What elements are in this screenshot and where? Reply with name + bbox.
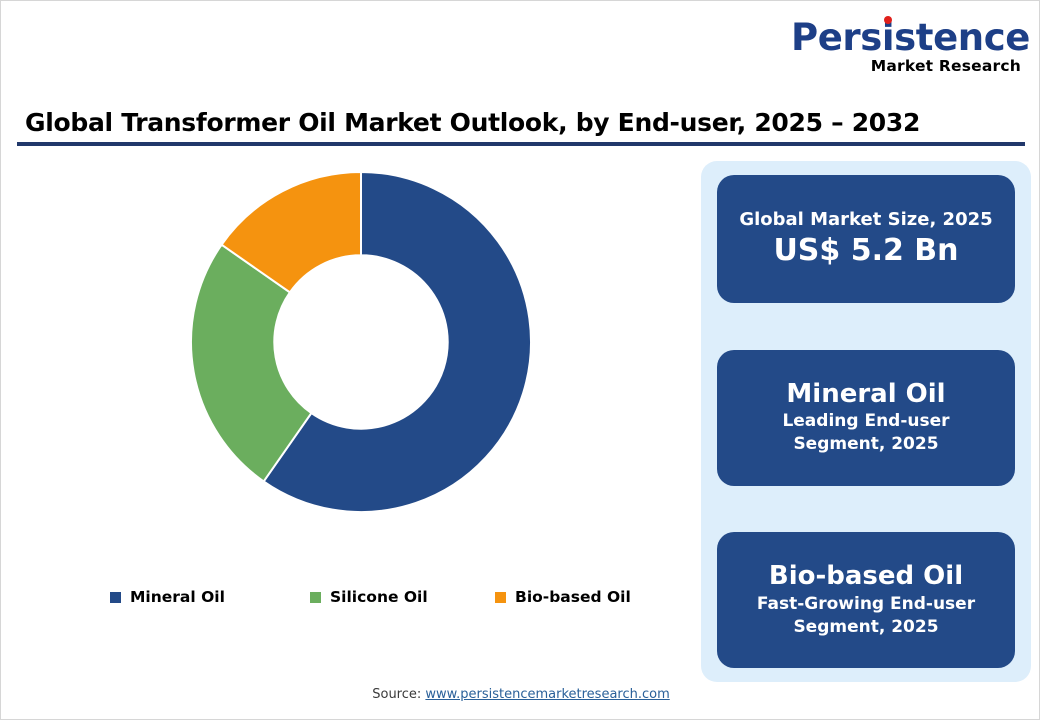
infographic-canvas: Persistence Market Research Global Trans… [0,0,1040,720]
source-link[interactable]: www.persistencemarketresearch.com [425,687,669,702]
stats-panel: Global Market Size, 2025 US$ 5.2 Bn Mine… [701,161,1031,682]
donut-chart [189,170,533,514]
stat-card-market-size[interactable]: Global Market Size, 2025 US$ 5.2 Bn [717,175,1015,303]
donut-chart-svg [189,170,533,514]
stat-card-fastest-segment-title: Bio-based Oil [769,561,963,593]
stat-card-leading-segment-sub1: Leading End-user [782,410,949,433]
stat-card-market-size-value: US$ 5.2 Bn [773,232,958,270]
legend-label: Bio-based Oil [515,588,631,606]
stat-card-leading-segment-title: Mineral Oil [786,379,945,411]
logo-red-dot-icon [884,16,892,24]
stat-card-leading-segment[interactable]: Mineral Oil Leading End-user Segment, 20… [717,350,1015,486]
stat-card-market-size-head: Global Market Size, 2025 [739,209,992,232]
legend-label: Mineral Oil [130,588,225,606]
source-footer: Source: www.persistencemarketresearch.co… [1,687,1040,702]
title-divider [17,142,1025,146]
legend-item-silicone-oil[interactable]: Silicone Oil [310,588,428,606]
stat-card-fastest-segment-sub2: Segment, 2025 [793,616,938,639]
donut-chart-area [25,156,685,556]
legend-swatch-icon [495,592,506,603]
stat-card-leading-segment-sub2: Segment, 2025 [793,433,938,456]
donut-slice-group [191,172,531,512]
logo-primary-label: Persistence [791,16,1030,59]
source-prefix: Source: [372,687,425,702]
company-logo: Persistence Market Research [791,19,1021,75]
chart-legend: Mineral OilSilicone OilBio-based Oil [25,584,685,610]
logo-primary-text: Persistence [791,19,1030,56]
stat-card-fastest-segment-sub1: Fast-Growing End-user [757,593,975,616]
legend-label: Silicone Oil [330,588,428,606]
legend-swatch-icon [310,592,321,603]
stat-card-fastest-segment[interactable]: Bio-based Oil Fast-Growing End-user Segm… [717,532,1015,668]
logo-secondary-label: Market Research [791,57,1021,75]
page-title: Global Transformer Oil Market Outlook, b… [25,108,920,137]
legend-item-mineral-oil[interactable]: Mineral Oil [110,588,225,606]
legend-item-bio-based-oil[interactable]: Bio-based Oil [495,588,631,606]
legend-swatch-icon [110,592,121,603]
